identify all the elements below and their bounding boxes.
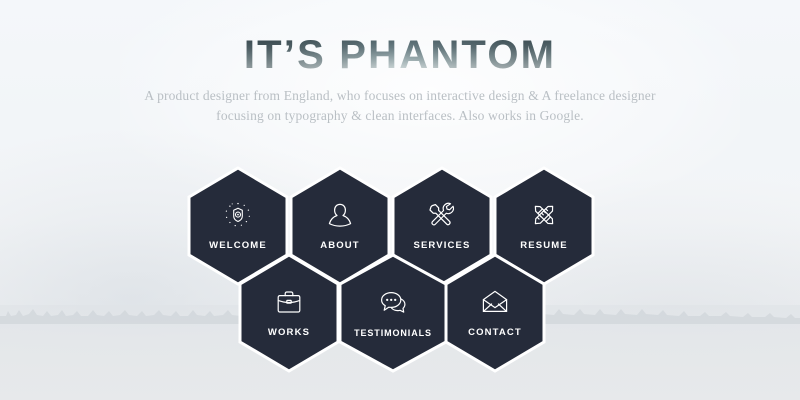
shine-icon (224, 201, 252, 229)
nav-hex-label: WELCOME (209, 240, 267, 251)
nav-hex-label: CONTACT (468, 327, 522, 338)
nav-hex-works[interactable]: WORKS (237, 253, 341, 373)
tools-icon (428, 201, 456, 229)
nav-hex-contact[interactable]: CONTACT (443, 253, 547, 373)
nav-hex-content: WORKS (237, 253, 341, 373)
pencil-ruler-icon (530, 201, 558, 229)
nav-hex-label: SERVICES (413, 240, 470, 251)
user-icon (326, 201, 354, 229)
nav-hex-label: WORKS (268, 327, 310, 338)
page-root: IT’S PHANTOM A product designer from Eng… (0, 0, 800, 400)
nav-hex-testimonials[interactable]: TESTIMONIALS (337, 253, 449, 373)
envelope-icon (481, 288, 509, 316)
nav-hex-label: ABOUT (320, 240, 360, 251)
briefcase-icon (275, 288, 303, 316)
hexagon-nav-grid: WELCOME ABOUT (0, 0, 800, 400)
nav-hex-label: TESTIMONIALS (354, 328, 432, 338)
nav-hex-label: RESUME (520, 240, 568, 251)
nav-hex-content: CONTACT (443, 253, 547, 373)
nav-hex-content: TESTIMONIALS (337, 253, 449, 373)
speech-bubbles-icon (379, 289, 407, 317)
